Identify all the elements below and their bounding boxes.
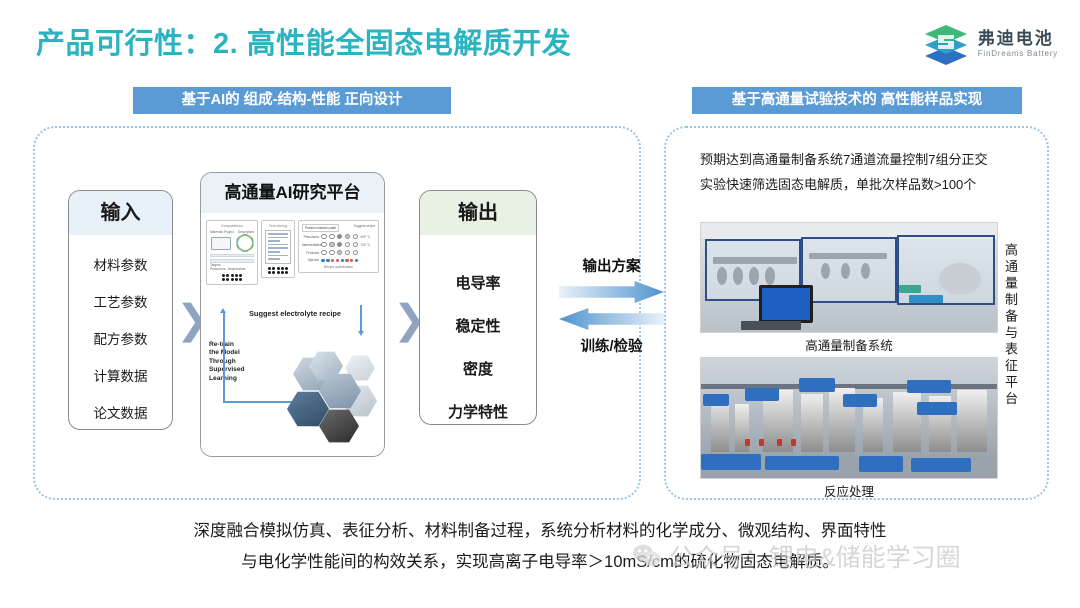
diagram-precursors-temp-label: Precursors - temperature [210, 267, 254, 271]
diagram-row-label: Products [302, 251, 319, 255]
lab-equipment-hex-collage [279, 351, 384, 451]
diagram-textmining-caption: Text mining [265, 224, 291, 228]
suggest-recipe-text: Suggest electrolyte recipe [249, 309, 341, 318]
arrow-left-icon [559, 308, 664, 330]
banner-right: 基于高通量试验技术的 高性能样品实现 [692, 87, 1022, 114]
diagram-row-label: Intermediates [302, 243, 319, 247]
banner-left: 基于AI的 组成-结构-性能 正向设计 [133, 87, 451, 114]
platform-card: 高通量AI研究平台 Computations Materials Project… [200, 172, 385, 457]
page-title: 产品可行性：2. 高性能全固态电解质开发 [36, 20, 571, 62]
arrow-down-icon [360, 305, 362, 331]
output-card: 输出 电导率 稳定性 密度 力学特性 [419, 190, 537, 425]
diagram-net-row: Products [302, 250, 375, 255]
photo-preparation-system [700, 222, 998, 333]
retrain-model-text: Re-trainthe ModelThroughSupervisedLearni… [209, 341, 245, 383]
photo-caption-reaction: 反应处理 [700, 481, 998, 500]
diagram-row-label: Precursors [302, 235, 319, 239]
diagram-textmining-box: Text mining [261, 220, 295, 278]
list-item: 配方参数 [69, 319, 172, 356]
diagram-network-box: Predict reaction path Suggest recipe Pre… [298, 220, 379, 273]
list-item: 工艺参数 [69, 282, 172, 319]
diagram-suggest-recipe-label: Suggest recipe [354, 224, 375, 228]
diagram-top-row: Computations Materials Project Descripto… [201, 213, 384, 285]
list-item: 稳定性 [420, 304, 536, 347]
logo-stack-icon [923, 22, 969, 66]
diagram-monitor-icon [211, 237, 231, 250]
arrow-up-icon [223, 313, 225, 403]
diagram-materials-project-label: Materials Project [210, 230, 234, 234]
output-card-header: 输出 [420, 191, 536, 235]
list-item: 材料参数 [69, 245, 172, 282]
list-item: 论文数据 [69, 393, 172, 430]
output-card-list: 电导率 稳定性 密度 力学特性 [420, 235, 536, 425]
right-description: 预期达到高通量制备系统7通道流量控制7组分正交 实验快速筛选固态电解质，单批次样… [700, 147, 1010, 198]
arrow-label-output: 输出方案 [559, 255, 664, 276]
arrow-right-icon [559, 281, 664, 303]
brand-logo: 弗迪电池 FinDreams Battery [923, 22, 1058, 66]
photo-reaction-processing [700, 357, 998, 479]
diagram-computations-box: Computations Materials Project Descripto… [206, 220, 258, 285]
diagram-net-row: Species [302, 258, 375, 262]
right-description-line2: 实验快速筛选固态电解质，单批次样品数>100个 [700, 172, 1010, 197]
input-card-list: 材料参数 工艺参数 配方参数 计算数据 论文数据 [69, 235, 172, 430]
logo-name-en: FinDreams Battery [978, 50, 1058, 58]
platform-diagram: Computations Materials Project Descripto… [201, 213, 384, 457]
logo-text: 弗迪电池 FinDreams Battery [978, 30, 1058, 58]
diagram-atom-icon [237, 235, 253, 251]
arrow-label-training: 训练/检验 [559, 335, 664, 356]
document-icon [265, 230, 291, 264]
diagram-net-row: Precursors 400 °C [302, 234, 375, 239]
diagram-predict-path-label: Predict reaction path [302, 224, 339, 232]
diagram-dotgrid [210, 274, 254, 281]
monitor-icon [759, 285, 813, 323]
slide-root: 产品可行性：2. 高性能全固态电解质开发 弗迪电池 FinDreams Batt… [0, 0, 1080, 608]
logo-name-cn: 弗迪电池 [978, 30, 1058, 47]
bottom-summary: 深度融合模拟仿真、表征分析、材料制备过程，系统分析材料的化学成分、微观结构、界面… [0, 516, 1080, 577]
diagram-recipe-dots [321, 259, 358, 262]
list-item: 密度 [420, 347, 536, 390]
diagram-recipe-optimization-caption: Recipe optimization [302, 265, 375, 269]
diagram-textmining-dots [265, 267, 291, 274]
right-description-line1: 预期达到高通量制备系统7通道流量控制7组分正交 [700, 147, 1010, 172]
diagram-row-label: Species [302, 258, 319, 262]
flow-arrows: 输出方案 训练/检验 [559, 255, 664, 365]
bottom-summary-line1: 深度融合模拟仿真、表征分析、材料制备过程，系统分析材料的化学成分、微观结构、界面… [0, 516, 1080, 547]
diagram-abinitio-bar [210, 254, 254, 257]
vertical-platform-label: 高通量制备与表征平台 [1004, 243, 1017, 408]
list-item: 力学特性 [420, 390, 536, 425]
bottom-summary-line2: 与电化学性能间的构效关系，实现高离子电导率＞10mS/cm的硫化物固态电解质。 [0, 547, 1080, 578]
diagram-net-row: Intermediates 700 °C [302, 242, 375, 247]
diagram-temp-label: 400 °C [360, 235, 370, 239]
input-card-header: 输入 [69, 191, 172, 235]
diagram-temp-label: 700 °C [360, 243, 370, 247]
platform-card-header: 高通量AI研究平台 [201, 173, 384, 213]
diagram-computations-caption: Computations [210, 224, 254, 228]
list-item: 电导率 [420, 261, 536, 304]
list-item: 计算数据 [69, 356, 172, 393]
photo-caption-preparation: 高通量制备系统 [700, 335, 998, 354]
input-card: 输入 材料参数 工艺参数 配方参数 计算数据 论文数据 [68, 190, 173, 430]
